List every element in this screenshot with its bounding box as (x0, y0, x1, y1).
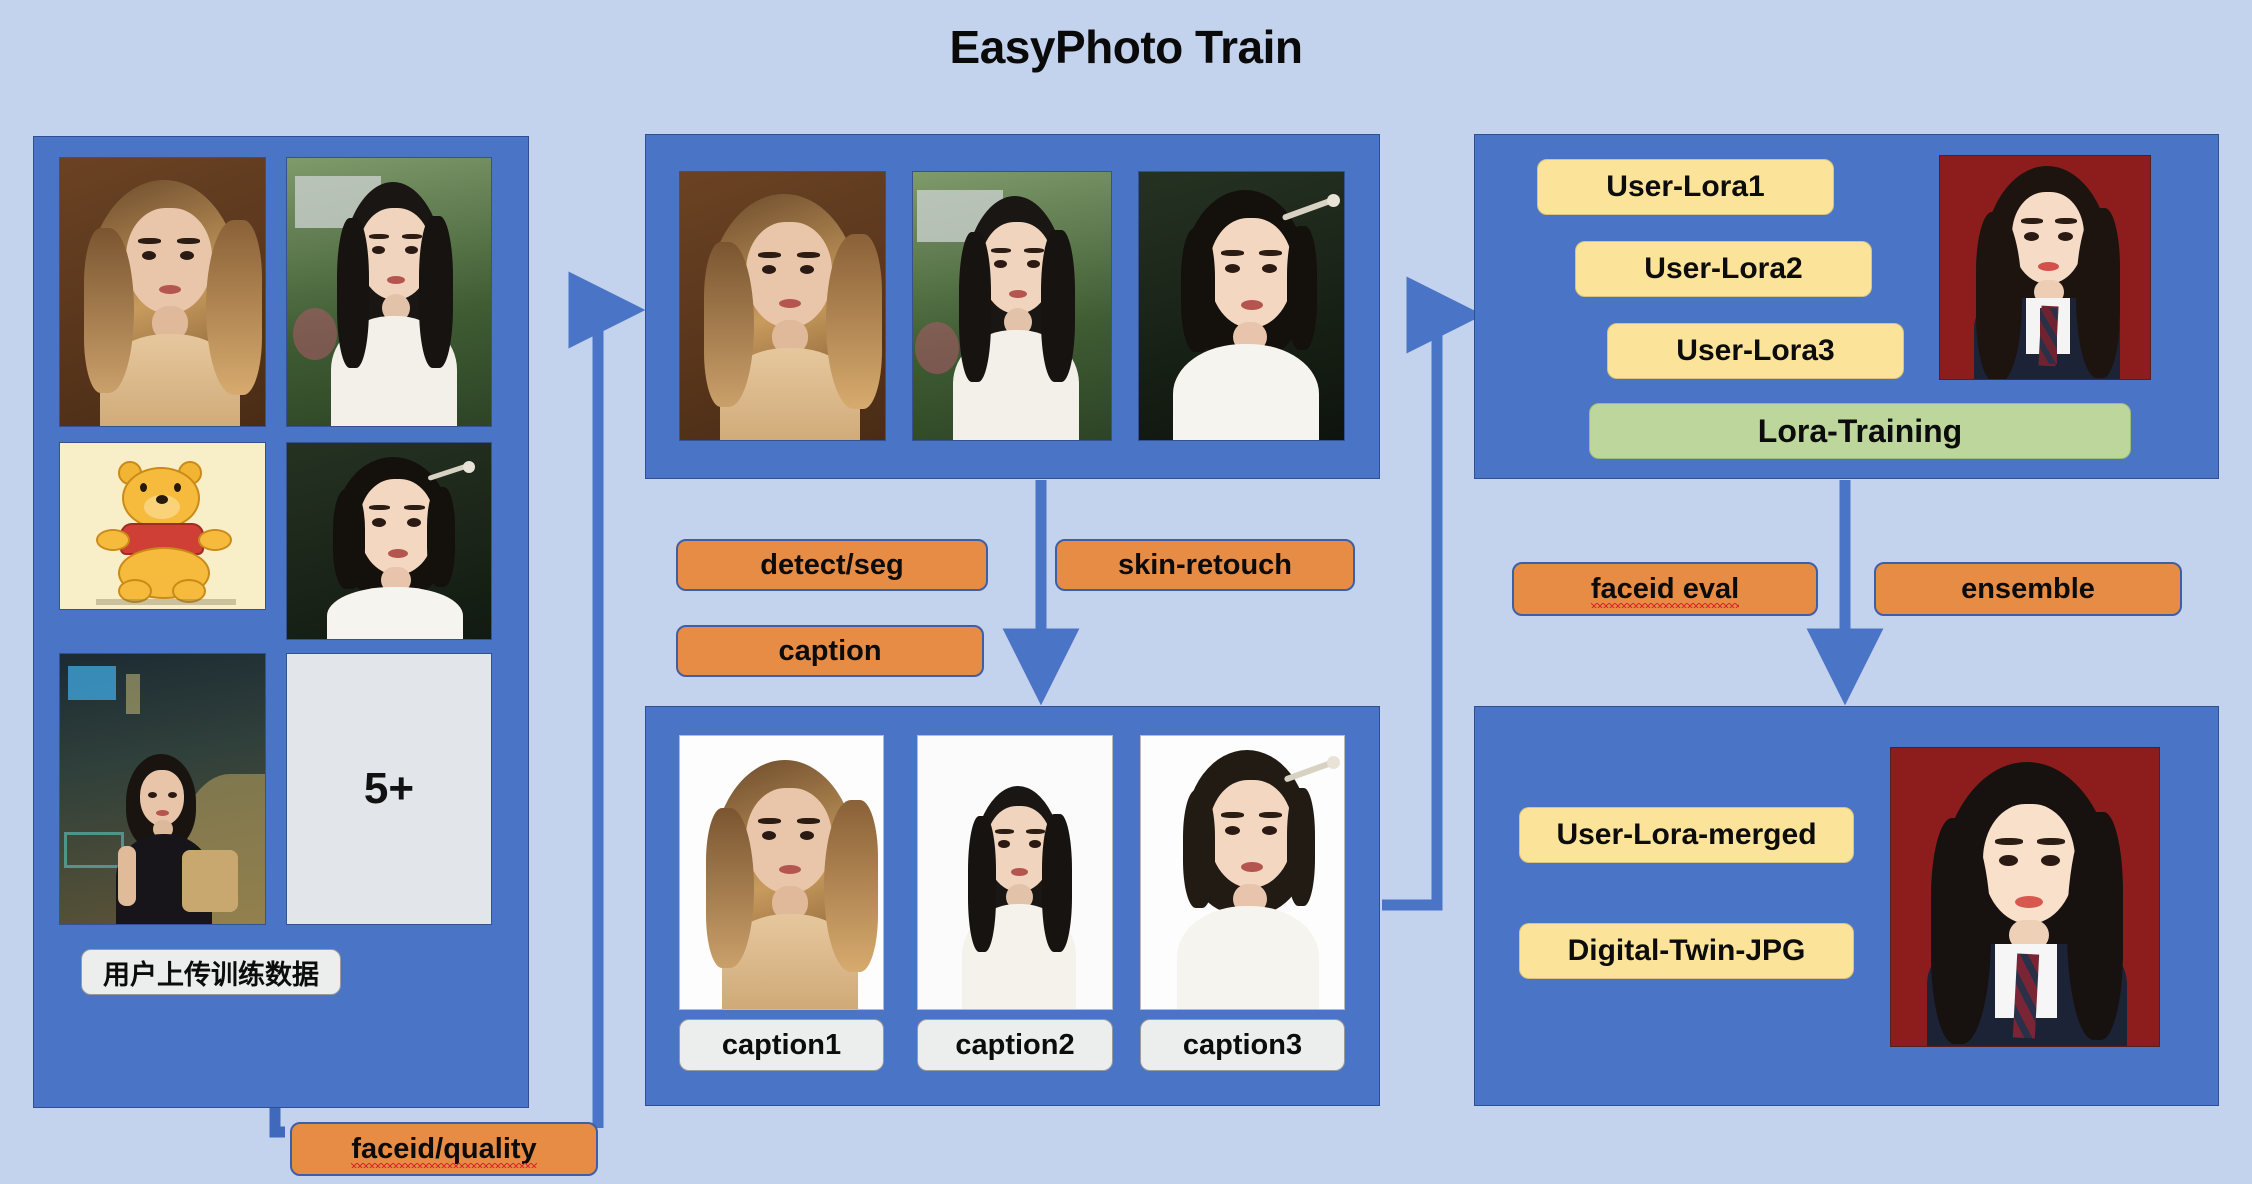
caption-pill-3: caption3 (1140, 1019, 1345, 1071)
tile-placeholder-more[interactable]: 5+ (286, 653, 492, 925)
photo-portrait-garden (287, 158, 491, 426)
lora-1-label: User-Lora1 (1606, 170, 1764, 204)
faceid-quality-label: faceid/quality (351, 1133, 536, 1166)
lora-2-label: User-Lora2 (1644, 252, 1802, 286)
photo-portrait-garden (913, 172, 1111, 440)
tile-preprocessed-3[interactable] (1138, 171, 1345, 441)
page-title: EasyPhoto Train (0, 20, 2252, 74)
caption-3-label: caption3 (1183, 1029, 1302, 1062)
lora-pill-3[interactable]: User-Lora3 (1607, 323, 1904, 379)
lora-training-action[interactable]: Lora-Training (1589, 403, 2131, 459)
lora-pill-2[interactable]: User-Lora2 (1575, 241, 1872, 297)
detect-seg-label: detect/seg (760, 549, 903, 582)
tile-user-photo-5[interactable] (59, 653, 266, 925)
label-ensemble[interactable]: ensemble (1874, 562, 2182, 616)
tile-caption-image-2[interactable] (917, 735, 1113, 1010)
tile-caption-image-3[interactable] (1140, 735, 1345, 1010)
arrow-faceid-to-preprocess (598, 310, 630, 1128)
panel-user-training-data: 5+ 用户上传训练数据 (33, 136, 529, 1108)
tile-user-photo-3-cartoon[interactable] (59, 442, 266, 610)
caption-label: caption (778, 635, 881, 668)
photo-id-red-bg (1940, 156, 2150, 379)
photo-cutout-white-coat (918, 736, 1112, 1009)
photo-portrait-hanfu (1139, 172, 1344, 440)
photo-cutout-hanfu (1141, 736, 1344, 1009)
caption-pill-1: caption1 (679, 1019, 884, 1071)
label-caption[interactable]: caption (676, 625, 984, 677)
tile-lora-preview-idphoto[interactable] (1939, 155, 2151, 380)
user-data-caption-label: 用户上传训练数据 (103, 953, 319, 992)
lora-pill-1[interactable]: User-Lora1 (1537, 159, 1834, 215)
output-digital-twin-label: Digital-Twin-JPG (1568, 934, 1806, 968)
skin-retouch-label: skin-retouch (1118, 549, 1292, 582)
photo-portrait-hanfu (287, 443, 491, 639)
panel-captioned-images: caption1 caption2 caption3 (645, 706, 1380, 1106)
output-pill-digital-twin[interactable]: Digital-Twin-JPG (1519, 923, 1854, 979)
label-faceid-quality[interactable]: faceid/quality (290, 1122, 598, 1176)
caption-1-label: caption1 (722, 1029, 841, 1062)
label-faceid-eval[interactable]: faceid eval (1512, 562, 1818, 616)
tile-caption-image-1[interactable] (679, 735, 884, 1010)
placeholder-count-label: 5+ (364, 764, 414, 814)
panel-output-digital-twin: User-Lora-merged Digital-Twin-JPG (1474, 706, 2219, 1106)
user-data-caption: 用户上传训练数据 (81, 949, 341, 995)
output-lora-merged-label: User-Lora-merged (1556, 818, 1816, 852)
tile-user-photo-2[interactable] (286, 157, 492, 427)
faceid-eval-label: faceid eval (1591, 573, 1739, 606)
panel-lora-training: User-Lora1 User-Lora2 User-Lora3 Lora-Tr… (1474, 134, 2219, 479)
tile-output-idphoto[interactable] (1890, 747, 2160, 1047)
tile-user-photo-1[interactable] (59, 157, 266, 427)
photo-night-street (60, 654, 265, 924)
label-skin-retouch[interactable]: skin-retouch (1055, 539, 1355, 591)
photo-portrait-brown (680, 172, 885, 440)
lora-training-label: Lora-Training (1758, 413, 1962, 450)
tile-preprocessed-2[interactable] (912, 171, 1112, 441)
arrow-userdata-to-faceid (275, 1108, 285, 1132)
panel-preprocessed-images (645, 134, 1380, 479)
photo-cartoon-bear (60, 443, 265, 609)
arrow-caption-to-loratrain (1382, 315, 1468, 905)
tile-user-photo-4[interactable] (286, 442, 492, 640)
output-pill-lora-merged[interactable]: User-Lora-merged (1519, 807, 1854, 863)
caption-2-label: caption2 (955, 1029, 1074, 1062)
label-detect-seg[interactable]: detect/seg (676, 539, 988, 591)
photo-portrait-brown (60, 158, 265, 426)
photo-id-red-bg (1891, 748, 2159, 1046)
ensemble-label: ensemble (1961, 573, 2095, 606)
photo-cutout-gold (680, 736, 883, 1009)
lora-3-label: User-Lora3 (1676, 334, 1834, 368)
tile-preprocessed-1[interactable] (679, 171, 886, 441)
caption-pill-2: caption2 (917, 1019, 1113, 1071)
